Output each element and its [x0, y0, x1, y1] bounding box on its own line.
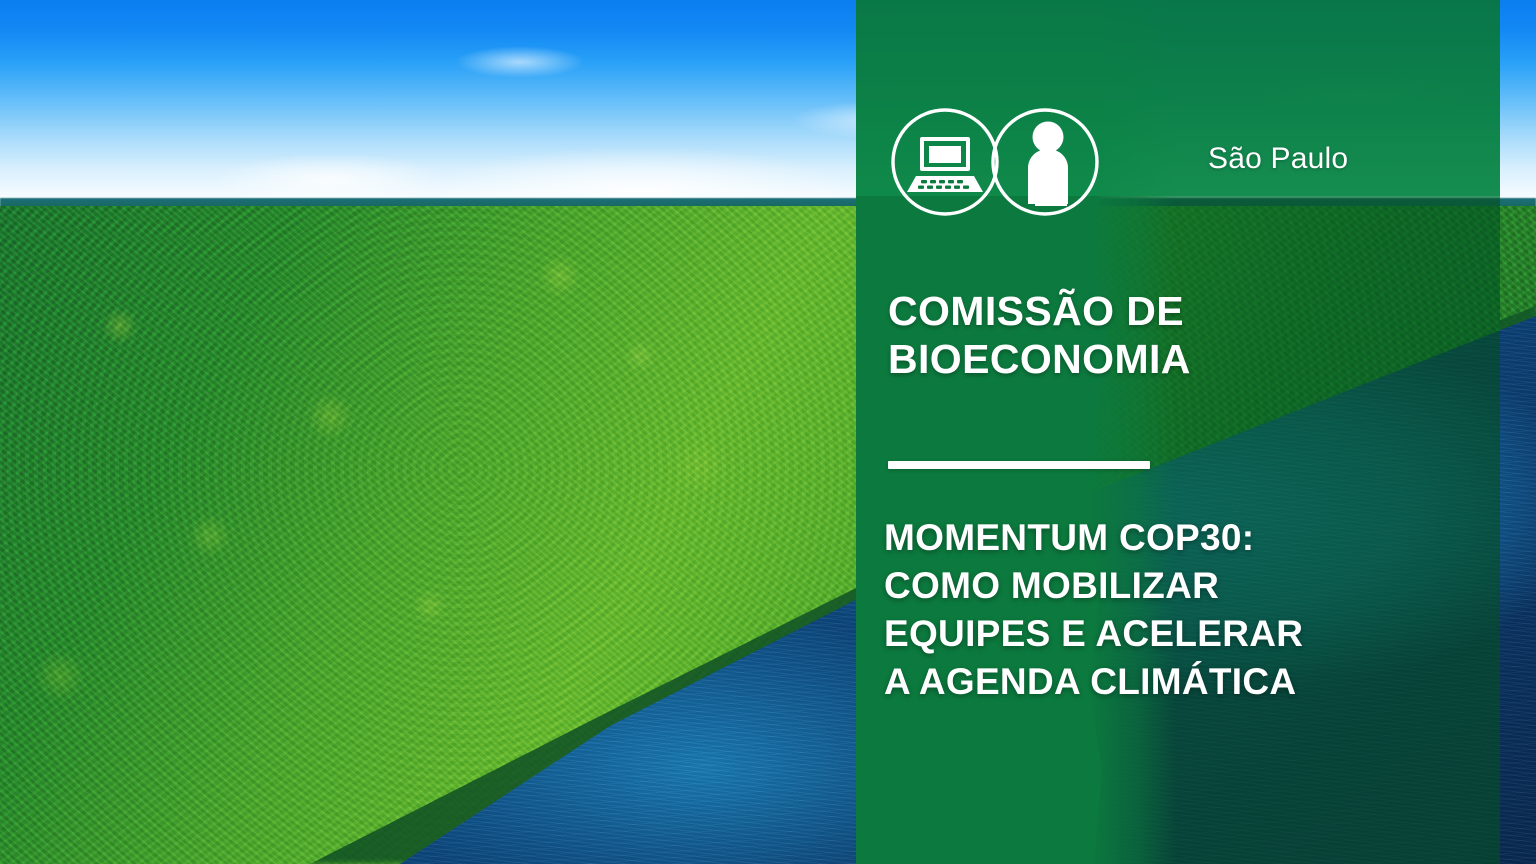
- event-title-line-1: MOMENTUM COP30:: [884, 514, 1464, 562]
- city-label: São Paulo: [1208, 142, 1348, 176]
- people-circle-icon: [993, 110, 1097, 214]
- title-divider-rule: [888, 461, 1150, 469]
- event-title-line-3: EQUIPES E ACELERAR: [884, 610, 1464, 658]
- event-title: MOMENTUM COP30: COMO MOBILIZAR EQUIPES E…: [884, 514, 1464, 706]
- organization-title-line-2: BIOECONOMIA: [888, 336, 1191, 382]
- laptop-circle-icon: [893, 110, 997, 214]
- organization-title-line-1: COMISSÃO DE: [888, 288, 1184, 334]
- event-title-line-4: A AGENDA CLIMÁTICA: [884, 658, 1464, 706]
- event-title-line-2: COMO MOBILIZAR: [884, 562, 1464, 610]
- organization-title: COMISSÃO DE BIOECONOMIA: [888, 288, 1318, 383]
- comissao-bioeconomia-logo[interactable]: [888, 106, 1108, 218]
- banner-stage: São Paulo COMISSÃO DE BIOECONOMIA MOMENT…: [0, 0, 1536, 864]
